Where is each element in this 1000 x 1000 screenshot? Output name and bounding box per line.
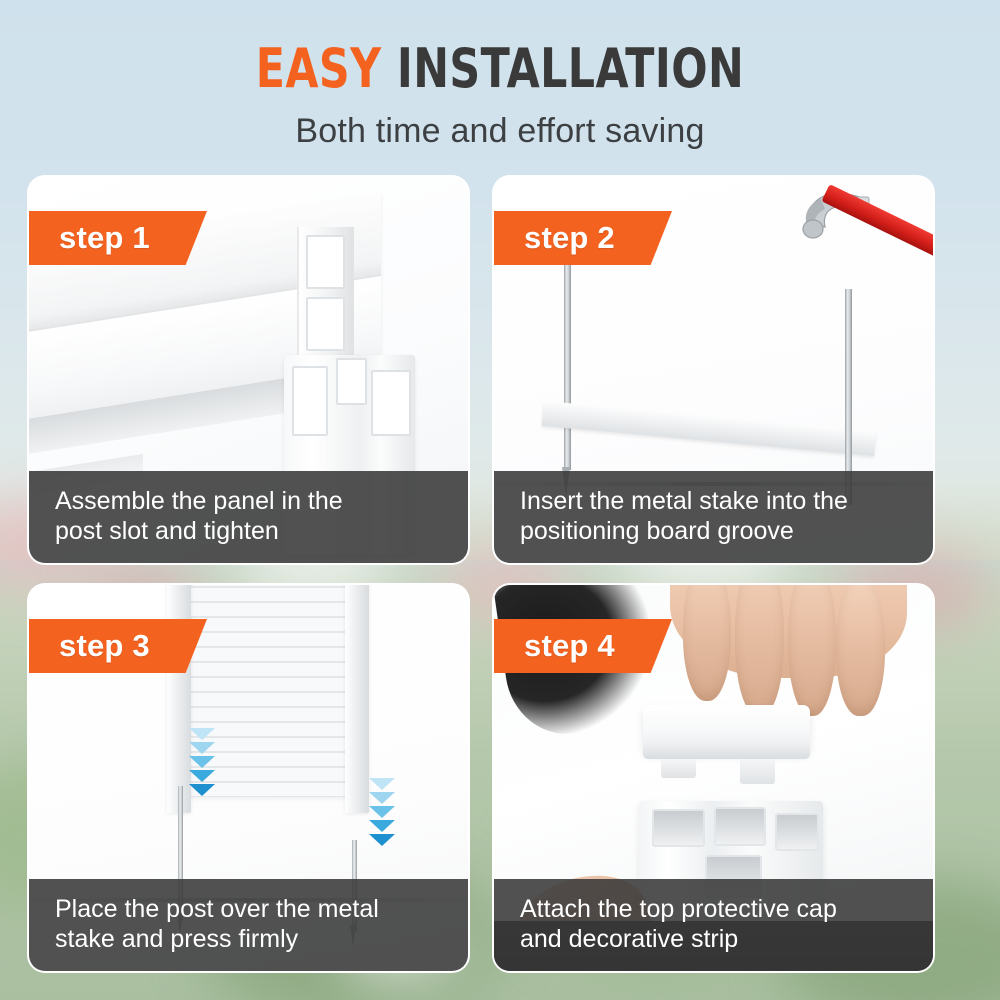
step-3-caption-line2: stake and press firmly bbox=[55, 924, 379, 955]
page-title-rest: INSTALLATION bbox=[397, 37, 744, 100]
page-title: EASY INSTALLATION bbox=[60, 42, 940, 96]
step-1-caption-line1: Assemble the panel in the bbox=[55, 486, 343, 517]
step-3-caption-line1: Place the post over the metal bbox=[55, 894, 379, 925]
page-subtitle: Both time and effort saving bbox=[0, 112, 1000, 151]
down-arrows-right bbox=[369, 778, 395, 846]
page-header: EASY INSTALLATION Both time and effort s… bbox=[0, 0, 1000, 151]
step-2-caption-line2: positioning board groove bbox=[520, 516, 848, 547]
step-2-caption: Insert the metal stake into the position… bbox=[494, 471, 933, 563]
down-arrows-left bbox=[189, 728, 215, 796]
page-title-highlight: EASY bbox=[256, 37, 382, 100]
step-1-caption-line2: post slot and tighten bbox=[55, 516, 343, 547]
step-card-3[interactable]: step 3 Place the post over the metal sta… bbox=[27, 583, 470, 973]
steps-grid: step 1 Assemble the panel in the post sl… bbox=[27, 175, 973, 973]
step-2-caption-line1: Insert the metal stake into the bbox=[520, 486, 848, 517]
step-card-1[interactable]: step 1 Assemble the panel in the post sl… bbox=[27, 175, 470, 565]
step-card-2[interactable]: step 2 Insert the metal stake into the p… bbox=[492, 175, 935, 565]
step-4-badge: step 4 bbox=[494, 619, 672, 673]
step-4-caption: Attach the top protective cap and decora… bbox=[494, 879, 933, 971]
step-3-caption: Place the post over the metal stake and … bbox=[29, 879, 468, 971]
step-2-badge: step 2 bbox=[494, 211, 672, 265]
step-3-badge: step 3 bbox=[29, 619, 207, 673]
step-card-4[interactable]: step 4 Attach the top protective cap and… bbox=[492, 583, 935, 973]
step-1-badge: step 1 bbox=[29, 211, 207, 265]
step-4-caption-line2: and decorative strip bbox=[520, 924, 837, 955]
step-1-caption: Assemble the panel in the post slot and … bbox=[29, 471, 468, 563]
step-4-caption-line1: Attach the top protective cap bbox=[520, 894, 837, 925]
